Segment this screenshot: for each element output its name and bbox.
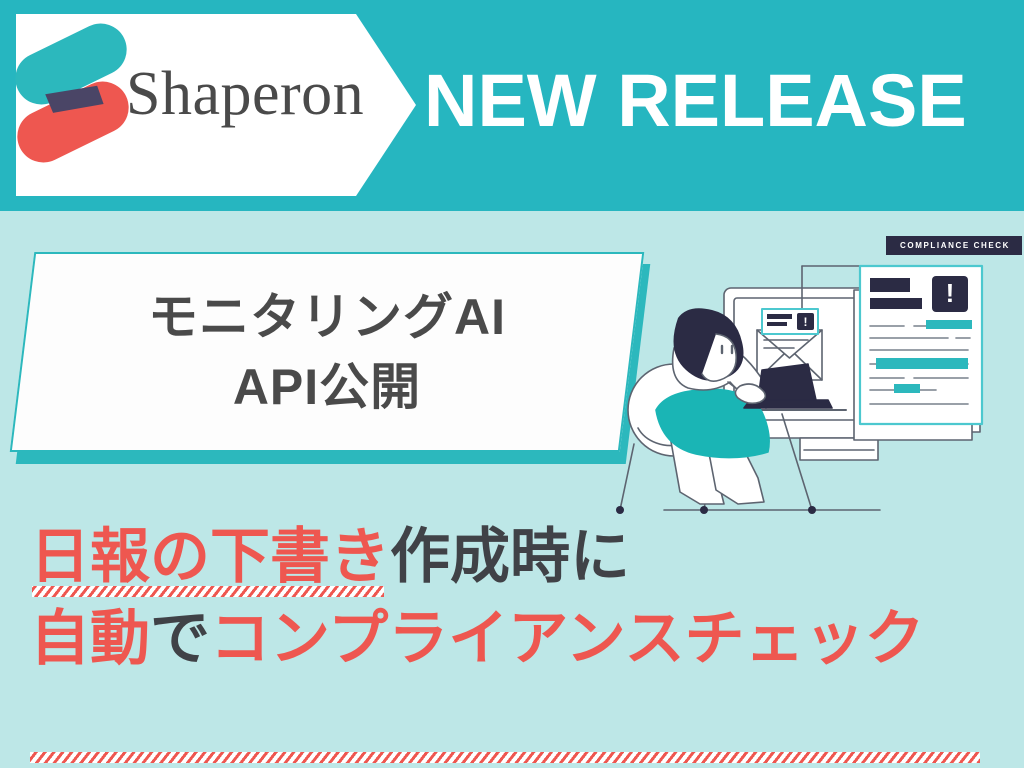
- laptop-screen: [758, 364, 816, 400]
- compliance-check-tag: COMPLIANCE CHECK: [886, 236, 1022, 255]
- illustration-svg: ! !: [612, 222, 1024, 534]
- title-banner-text: モニタリングAI API公開: [22, 252, 632, 452]
- doc-highlight-3: [894, 384, 920, 393]
- headline-line-1: 日報の下書き作成時に: [30, 520, 990, 594]
- doc-alert-glyph: !: [946, 278, 955, 308]
- headline-line-1-segment-red: 日報の下書き: [30, 523, 390, 590]
- headline-line-1-segment-dark: 作成時に: [390, 523, 630, 590]
- title-line-1: モニタリングAI: [148, 285, 506, 349]
- title-line-2: API公開: [233, 355, 421, 419]
- headline-line-2: 自動でコンプライアンスチェック: [30, 602, 990, 676]
- desk-foot-right: [808, 506, 816, 514]
- shaperon-s-logo-icon: [18, 32, 126, 158]
- headline-line-2-segment-red-1: 自動: [30, 605, 150, 672]
- doc-title-bar-2: [870, 298, 922, 309]
- header-band: Shaperon NEW RELEASE: [0, 0, 1024, 211]
- headline-underline-2: [30, 752, 980, 763]
- illustration-woman-at-desk-compliance-check: ! !: [612, 222, 1024, 534]
- brand-wordmark: Shaperon: [126, 58, 364, 130]
- doc-highlight-1: [926, 320, 972, 329]
- title-banner: モニタリングAI API公開: [22, 252, 632, 470]
- headline-line-2-segment-red-2: コンプライアンスチェック: [210, 605, 925, 672]
- monitor-stand: [800, 438, 878, 460]
- card-bar-1: [767, 314, 792, 319]
- headline-underline-1: [32, 586, 384, 597]
- card-bar-2: [767, 322, 787, 326]
- new-release-title: NEW RELEASE: [424, 59, 967, 143]
- doc-title-bar-1: [870, 278, 910, 292]
- doc-highlight-2: [876, 358, 968, 369]
- chair-leg: [620, 444, 634, 510]
- poster-canvas: Shaperon NEW RELEASE モニタリングAI API公開: [0, 0, 1024, 768]
- desk-foot-left: [700, 506, 708, 514]
- chair-foot: [616, 506, 624, 514]
- headline-block: 日報の下書き作成時に 自動でコンプライアンスチェック: [30, 520, 990, 676]
- headline-line-2-segment-dark: で: [150, 605, 210, 672]
- card-alert-glyph: !: [804, 315, 808, 329]
